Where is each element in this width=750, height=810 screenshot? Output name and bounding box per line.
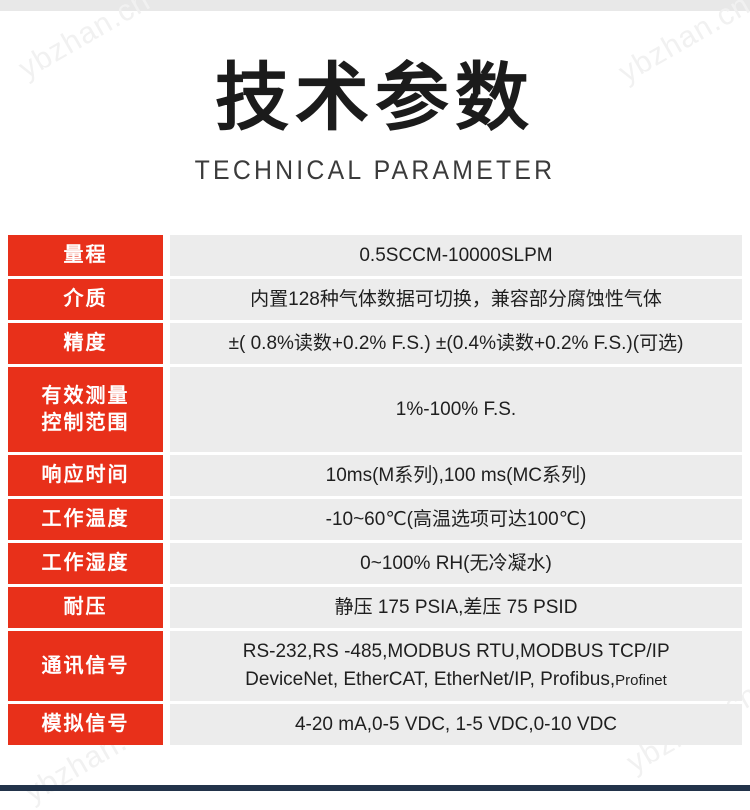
spec-value-line-2-tail: Profinet bbox=[615, 672, 667, 689]
spec-value: 0.5SCCM-10000SLPM bbox=[170, 235, 742, 276]
spec-label-line-1: 有效测量 bbox=[42, 385, 130, 407]
table-row: 通讯信号 RS-232,RS -485,MODBUS RTU,MODBUS TC… bbox=[8, 631, 742, 701]
spec-value-text: 0~100% RH(无冷凝水) bbox=[178, 550, 734, 578]
spec-value: 1%-100% F.S. bbox=[170, 367, 742, 452]
spec-label-text: 耐压 bbox=[8, 594, 163, 621]
spec-value-text: RS-232,RS -485,MODBUS RTU,MODBUS TCP/IP … bbox=[178, 638, 734, 693]
spec-value-text: -10~60℃(高温选项可达100℃) bbox=[178, 506, 734, 534]
spec-value: 0~100% RH(无冷凝水) bbox=[170, 543, 742, 584]
spec-value: 10ms(M系列),100 ms(MC系列) bbox=[170, 455, 742, 496]
spec-value-text: 0.5SCCM-10000SLPM bbox=[178, 242, 734, 270]
spec-label: 工作温度 bbox=[8, 499, 163, 540]
spec-value: RS-232,RS -485,MODBUS RTU,MODBUS TCP/IP … bbox=[170, 631, 742, 701]
specification-table: 量程 0.5SCCM-10000SLPM 介质 内置128种气体数据可切换，兼容… bbox=[8, 235, 742, 748]
table-row: 响应时间 10ms(M系列),100 ms(MC系列) bbox=[8, 455, 742, 496]
spec-label-text: 工作湿度 bbox=[8, 550, 163, 577]
spec-label-text: 量程 bbox=[8, 242, 163, 269]
page-subtitle: TECHNICAL PARAMETER bbox=[30, 135, 720, 184]
spec-label-text: 有效测量 控制范围 bbox=[8, 383, 163, 437]
spec-label-text: 响应时间 bbox=[8, 462, 163, 489]
spec-value-text: 内置128种气体数据可切换，兼容部分腐蚀性气体 bbox=[178, 286, 734, 314]
spec-label-text: 通讯信号 bbox=[8, 653, 163, 680]
spec-value: 静压 175 PSIA,差压 75 PSID bbox=[170, 587, 742, 628]
spec-value: -10~60℃(高温选项可达100℃) bbox=[170, 499, 742, 540]
spec-label: 耐压 bbox=[8, 587, 163, 628]
spec-value-line-1: RS-232,RS -485,MODBUS RTU,MODBUS TCP/IP bbox=[243, 641, 670, 662]
table-row: 介质 内置128种气体数据可切换，兼容部分腐蚀性气体 bbox=[8, 279, 742, 320]
spec-label: 通讯信号 bbox=[8, 631, 163, 701]
spec-value-line-2-main: DeviceNet, EtherCAT, EtherNet/IP, Profib… bbox=[245, 669, 615, 690]
spec-value-text: ±( 0.8%读数+0.2% F.S.) ±(0.4%读数+0.2% F.S.)… bbox=[178, 330, 734, 358]
spec-label-text: 工作温度 bbox=[8, 506, 163, 533]
table-row: 模拟信号 4-20 mA,0-5 VDC, 1-5 VDC,0-10 VDC bbox=[8, 704, 742, 745]
spec-value-line-2: DeviceNet, EtherCAT, EtherNet/IP, Profib… bbox=[245, 669, 667, 690]
spec-value-text: 1%-100% F.S. bbox=[178, 396, 734, 424]
spec-value-text: 10ms(M系列),100 ms(MC系列) bbox=[178, 462, 734, 490]
spec-value-text: 静压 175 PSIA,差压 75 PSID bbox=[178, 594, 734, 622]
spec-label-line-2: 控制范围 bbox=[8, 410, 163, 437]
spec-label: 量程 bbox=[8, 235, 163, 276]
page-header: 技术参数 TECHNICAL PARAMETER bbox=[0, 11, 750, 184]
spec-value: 内置128种气体数据可切换，兼容部分腐蚀性气体 bbox=[170, 279, 742, 320]
spec-label-text: 精度 bbox=[8, 330, 163, 357]
spec-label: 响应时间 bbox=[8, 455, 163, 496]
spec-label: 工作湿度 bbox=[8, 543, 163, 584]
spec-label-text: 介质 bbox=[8, 286, 163, 313]
spec-value: ±( 0.8%读数+0.2% F.S.) ±(0.4%读数+0.2% F.S.)… bbox=[170, 323, 742, 364]
spec-label: 介质 bbox=[8, 279, 163, 320]
table-row: 有效测量 控制范围 1%-100% F.S. bbox=[8, 367, 742, 452]
spec-value-text: 4-20 mA,0-5 VDC, 1-5 VDC,0-10 VDC bbox=[178, 711, 734, 739]
table-row: 耐压 静压 175 PSIA,差压 75 PSID bbox=[8, 587, 742, 628]
spec-label: 精度 bbox=[8, 323, 163, 364]
spec-label: 模拟信号 bbox=[8, 704, 163, 745]
spec-label: 有效测量 控制范围 bbox=[8, 367, 163, 452]
table-row: 工作湿度 0~100% RH(无冷凝水) bbox=[8, 543, 742, 584]
table-row: 精度 ±( 0.8%读数+0.2% F.S.) ±(0.4%读数+0.2% F.… bbox=[8, 323, 742, 364]
table-row: 量程 0.5SCCM-10000SLPM bbox=[8, 235, 742, 276]
page-title: 技术参数 bbox=[0, 11, 750, 135]
spec-value: 4-20 mA,0-5 VDC, 1-5 VDC,0-10 VDC bbox=[170, 704, 742, 745]
spec-label-text: 模拟信号 bbox=[8, 711, 163, 738]
bottom-decorative-strip bbox=[0, 785, 750, 791]
table-row: 工作温度 -10~60℃(高温选项可达100℃) bbox=[8, 499, 742, 540]
top-decorative-strip bbox=[0, 0, 750, 11]
